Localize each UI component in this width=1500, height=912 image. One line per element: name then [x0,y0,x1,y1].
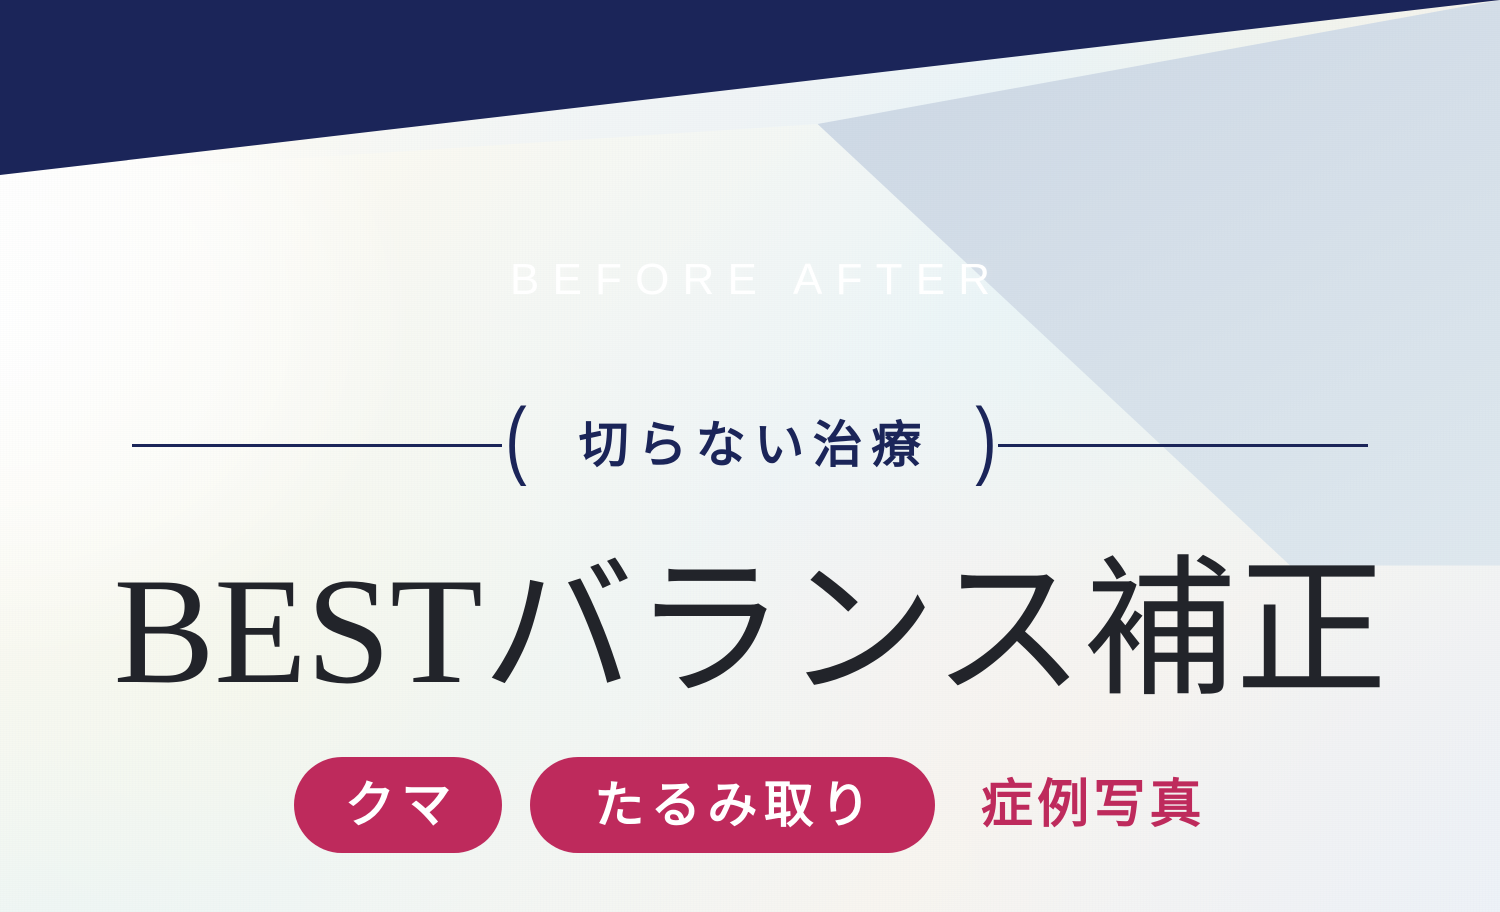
hero-subtitle: 切らない治療 [528,420,972,470]
hero-divider: ( 切らない治療 ) [0,400,1500,490]
hero-eyebrow: BEFORE AFTER [0,258,1500,302]
tag-suffix-label: 症例写真 [977,779,1206,831]
hero-tag-row: クマ たるみ取り 症例写真 [0,757,1500,853]
hero-banner: BEFORE AFTER ( 切らない治療 ) BESTバランス補正 クマ たる… [0,0,1500,912]
open-paren-glyph: ( [506,396,526,482]
tag-pill-kuma[interactable]: クマ [294,757,502,853]
divider-rule-right [998,444,1368,447]
divider-rule-left [132,444,502,447]
hero-headline: BESTバランス補正 [0,552,1500,710]
tag-pill-tarumitori[interactable]: たるみ取り [530,757,935,853]
close-paren-glyph: ) [975,396,995,482]
